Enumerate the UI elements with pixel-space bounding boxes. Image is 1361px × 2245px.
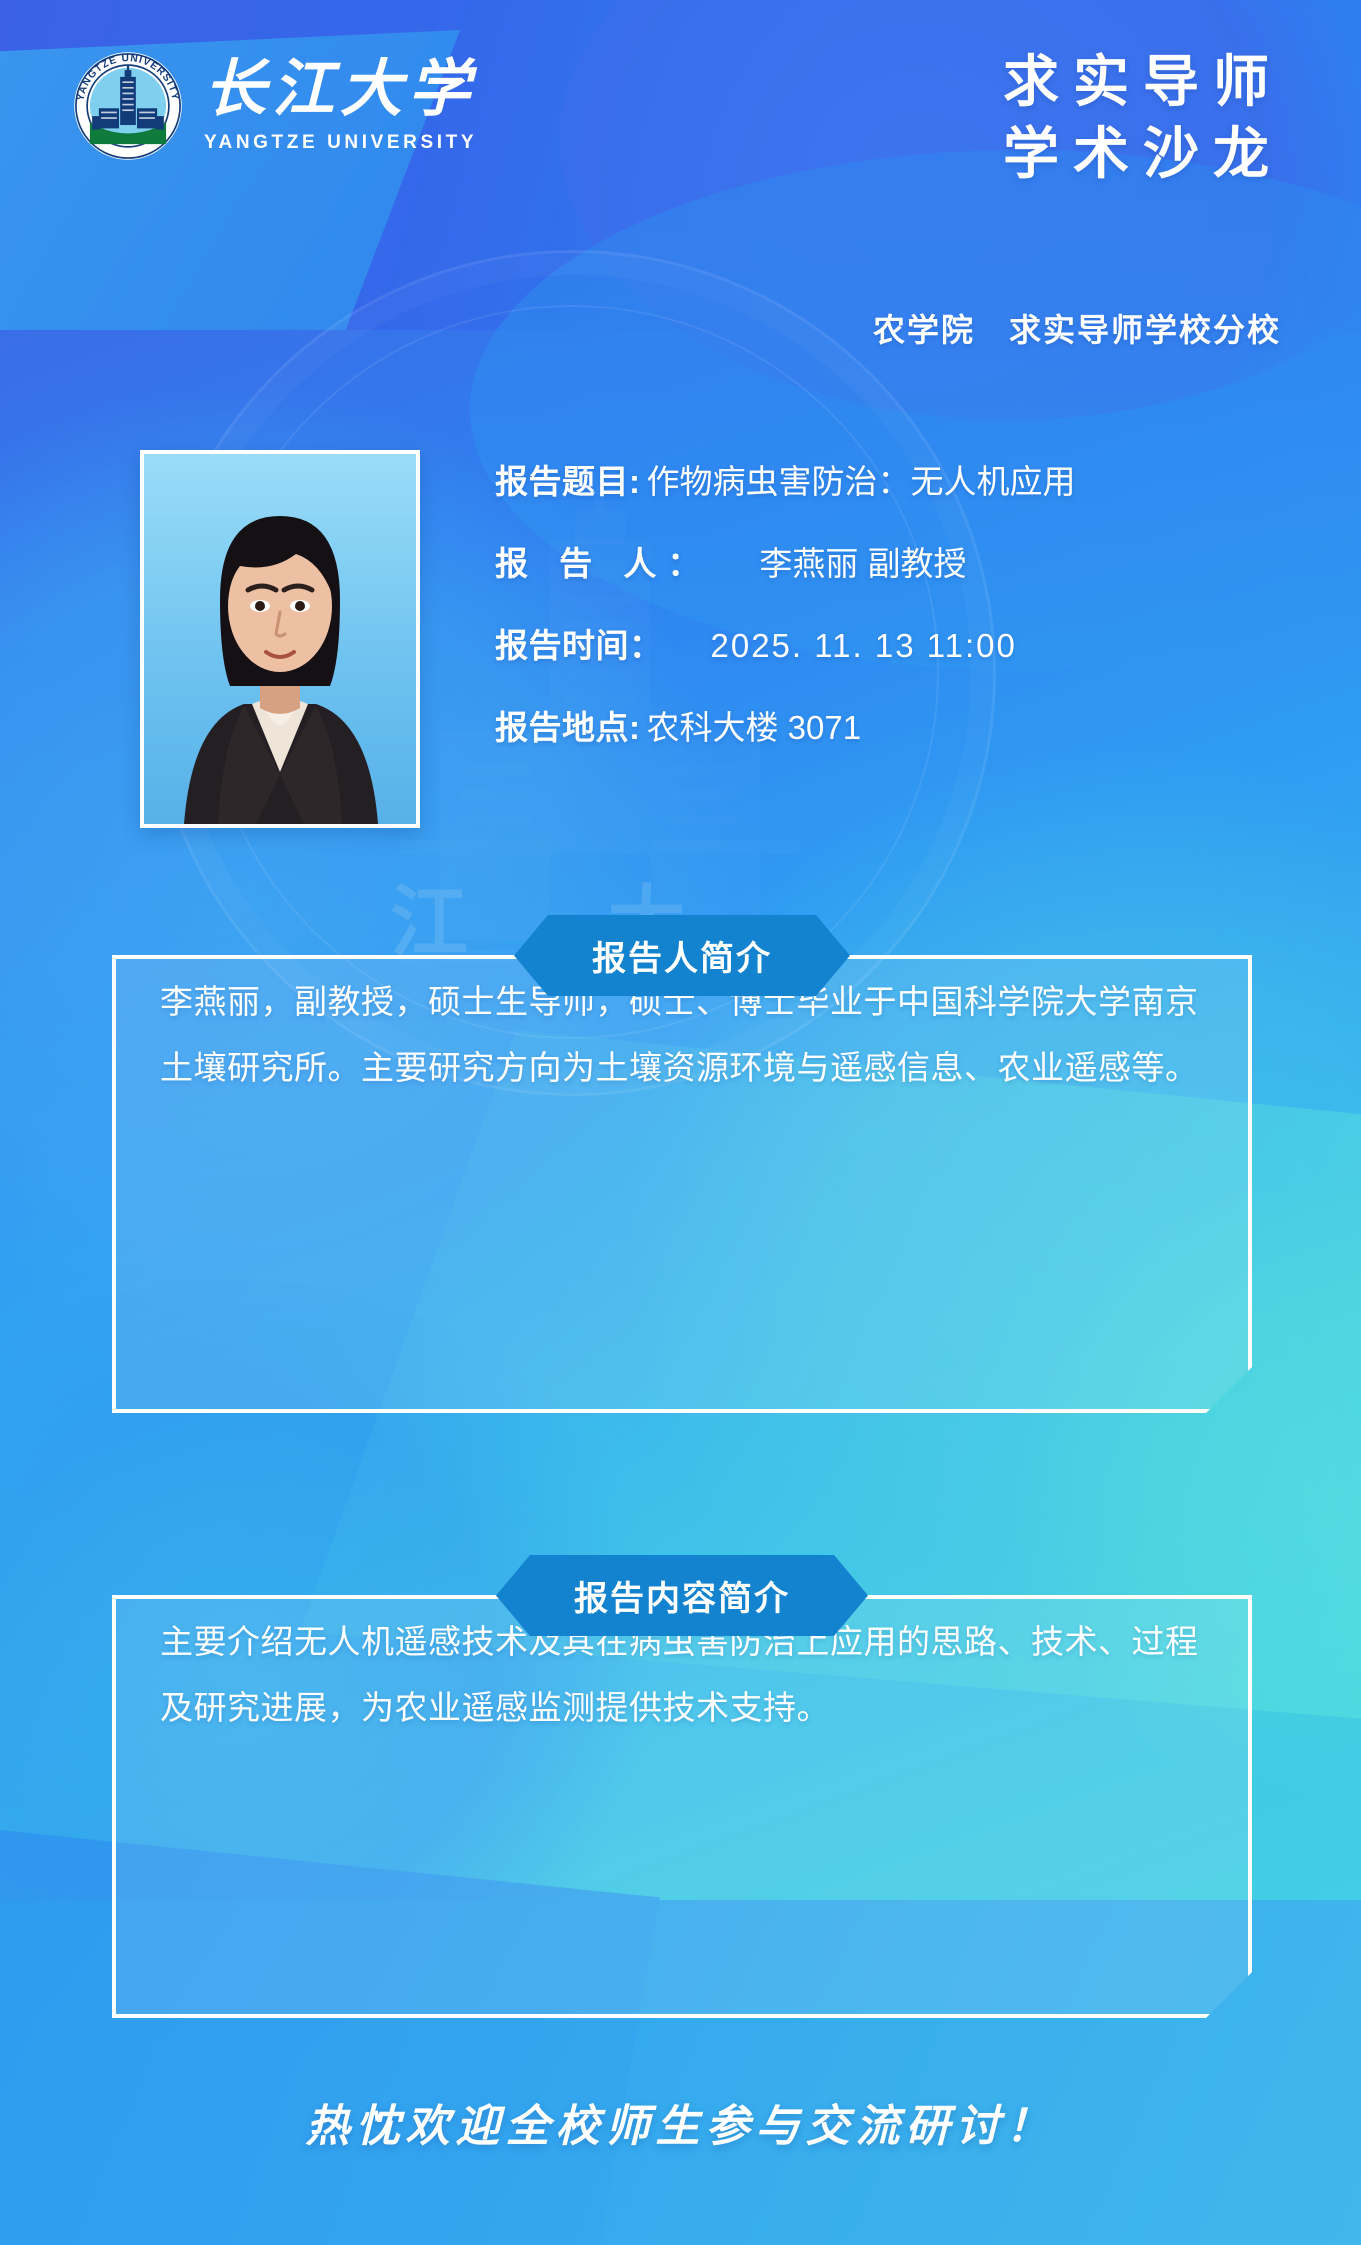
poster-root: 长江 江 大 [0, 0, 1361, 2245]
report-time-value: 2025. 11. 13 11:00 [711, 627, 1017, 665]
report-info-list: 报告题目: 作物病虫害防治：无人机应用 报 告 人： 李燕丽 副教授 报告时间：… [495, 455, 1255, 783]
report-content-panel: 报告内容简介 主要介绍无人机遥感技术及其在病虫害防治上应用的思路、技术、过程及研… [112, 1555, 1252, 2020]
report-speaker-row: 报 告 人： 李燕丽 副教授 [495, 537, 1255, 585]
university-logo-block: YANGTZE UNIVERSITY 长江大学 YANGTZE UNIVERSI… [72, 50, 477, 162]
footer-welcome: 热忱欢迎全校师生参与交流研讨！ [0, 2090, 1361, 2154]
university-name-block: 长江大学 YANGTZE UNIVERSITY [204, 58, 477, 153]
speaker-portrait [140, 450, 420, 828]
salon-title: 求实导师 学术沙龙 [1003, 48, 1283, 191]
university-name-en: YANGTZE UNIVERSITY [204, 132, 477, 154]
organizer-line: 农学院 求实导师学校分校 [873, 305, 1281, 351]
report-title-label: 报告题目: [495, 455, 641, 503]
report-location-value: 农科大楼 3071 [647, 701, 862, 749]
speaker-bio-badge: 报告人简介 [514, 915, 850, 996]
report-title-row: 报告题目: 作物病虫害防治：无人机应用 [495, 455, 1255, 503]
report-location-label: 报告地点: [495, 701, 641, 749]
report-speaker-value: 李燕丽 副教授 [759, 537, 966, 585]
yangtze-university-seal-icon: YANGTZE UNIVERSITY [72, 50, 184, 162]
report-time-row: 报告时间： 2025. 11. 13 11:00 [495, 619, 1255, 667]
report-time-label: 报告时间： [495, 619, 663, 667]
speaker-portrait-image [144, 454, 416, 824]
report-title-value: 作物病虫害防治：无人机应用 [647, 455, 1076, 503]
report-content-badge: 报告内容简介 [496, 1555, 868, 1636]
salon-title-line1: 求实导师 [1003, 48, 1283, 120]
report-location-row: 报告地点: 农科大楼 3071 [495, 701, 1255, 749]
report-speaker-label: 报 告 人： [495, 537, 711, 585]
salon-title-line2: 学术沙龙 [1003, 120, 1283, 192]
university-name-cn: 长江大学 [204, 58, 477, 123]
speaker-bio-panel: 报告人简介 李燕丽，副教授，硕士生导师，硕士、博士毕业于中国科学院大学南京土壤研… [112, 915, 1252, 1415]
